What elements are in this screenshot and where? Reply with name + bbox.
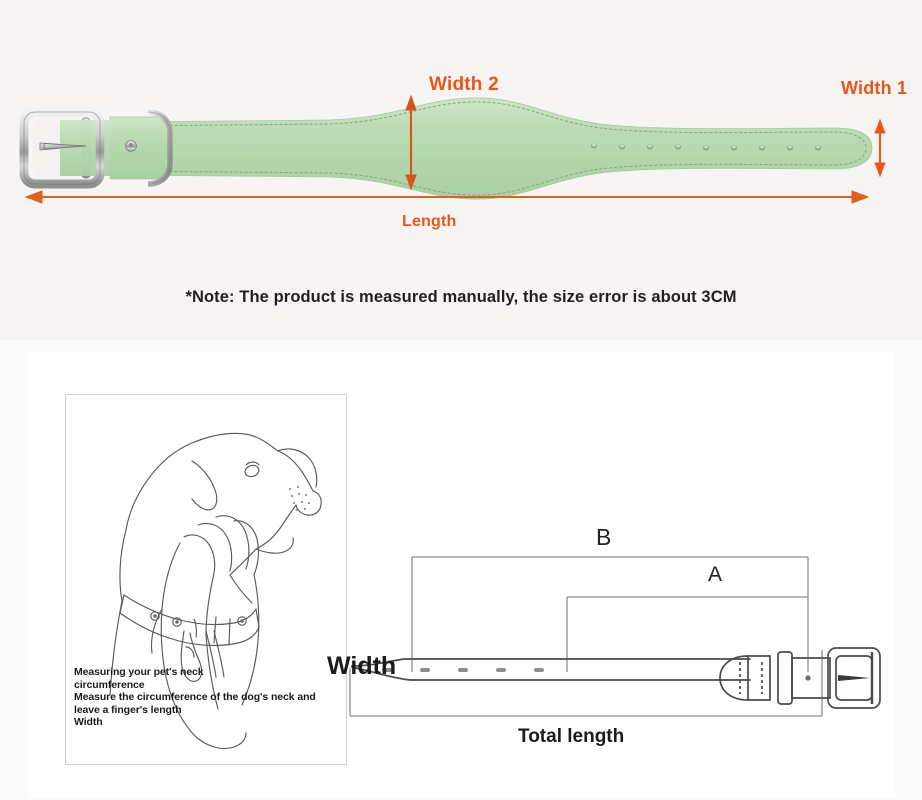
collar-buckle <box>24 112 112 184</box>
dimension-bracket-a <box>567 597 808 672</box>
caption-line-3: Measure the circumference of the dog's n… <box>74 691 346 704</box>
dimension-bracket-b <box>412 557 808 672</box>
size-guide-page: Width 2 Width 1 Length *Note: The produc… <box>0 0 922 800</box>
label-b: B <box>596 524 611 551</box>
collar-strap <box>112 98 872 199</box>
caption-line-1: Measuring your pet's neck <box>74 666 346 679</box>
schematic-buckle <box>720 648 880 708</box>
caption-line-2: circumference <box>74 679 346 692</box>
label-length: Length <box>402 213 457 231</box>
label-a: A <box>708 563 722 587</box>
measurement-note: *Note: The product is measured manually,… <box>0 288 922 307</box>
dog-measuring-panel: Measuring your pet's neck circumference … <box>65 394 347 765</box>
label-width-1: Width 1 <box>841 78 907 99</box>
collar-keeper-loop <box>110 112 171 184</box>
label-width-schematic: Width <box>327 652 396 681</box>
width1-dimension-arrow <box>875 120 885 176</box>
label-width-2: Width 2 <box>429 74 499 96</box>
dimension-bracket-total-length <box>350 650 822 716</box>
schematic-holes <box>382 668 544 672</box>
label-total-length: Total length <box>518 726 624 748</box>
caption-line-4: leave a finger's length <box>74 704 346 717</box>
dog-measure-caption: Measuring your pet's neck circumference … <box>74 666 346 729</box>
collar-photo-section: Width 2 Width 1 Length *Note: The produc… <box>0 0 922 340</box>
caption-line-5: Width <box>74 716 346 729</box>
collar-schematic-diagram <box>330 520 890 760</box>
